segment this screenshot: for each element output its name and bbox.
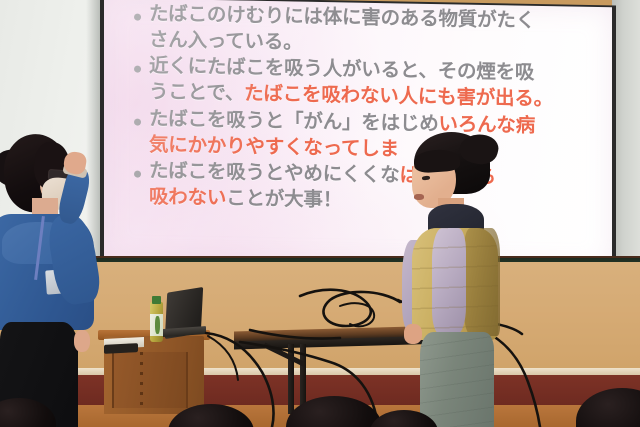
bullet-dot-icon (134, 171, 141, 178)
slide-bullet: たばこを吸うとやめにくくなはじめから 吸わないことが大事！ (134, 158, 604, 218)
bottle-label-graphic (155, 316, 160, 334)
podium-panel (112, 352, 188, 408)
slide-content: たばこのけむりには体に害のある物質がたく さん入っている。 近くにたばこを吸う人… (134, 1, 604, 219)
slide-line-highlight: たばこを吸わない人にも害が出る。 (244, 82, 553, 111)
slide-bullet: たばこのけむりには体に害のある物質がたく さん入っている。 (134, 1, 604, 61)
bullet-dot-icon (134, 14, 141, 21)
mouth (414, 194, 424, 200)
slide-line-text: たばこを吸うと「がん」をはじめ (149, 107, 439, 135)
projector-screen: たばこのけむりには体に害のある物質がたく さん入っている。 近くにたばこを吸う人… (104, 0, 612, 269)
classroom-scene: たばこのけむりには体に害のある物質がたく さん入っている。 近くにたばこを吸う人… (0, 0, 640, 427)
pants-folds (420, 332, 494, 427)
student-presenter-boy (398, 132, 518, 427)
vest-quilting (412, 228, 498, 340)
bottle-cap (152, 296, 161, 304)
slide-line-highlight: 吸わない (149, 185, 226, 209)
slide-line-text: さん入っている。 (149, 28, 302, 54)
podium-rivets (140, 352, 143, 406)
student-presenter-girl (0, 130, 116, 427)
slide-line-highlight: 気にかかりやすくなってしま (149, 132, 399, 160)
lowered-hand (74, 330, 90, 352)
wall-upper-right (612, 0, 640, 262)
slide-line-text: うことで、 (149, 80, 244, 105)
hand (404, 324, 422, 344)
slide-bullet: 近くにたばこを吸う人がいると、その煙を吸 うことで、たばこを吸わない人にも害が出… (134, 53, 604, 113)
slide-line-text: ことが大事！ (226, 186, 342, 211)
slide-line-text: たばこを吸うとやめにくくな (149, 159, 400, 187)
bullet-dot-icon (134, 118, 141, 125)
slide-bullet: たばこを吸うと「がん」をはじめいろんな病 気にかかりやすくなってしま (134, 105, 604, 165)
bullet-dot-icon (134, 66, 141, 73)
